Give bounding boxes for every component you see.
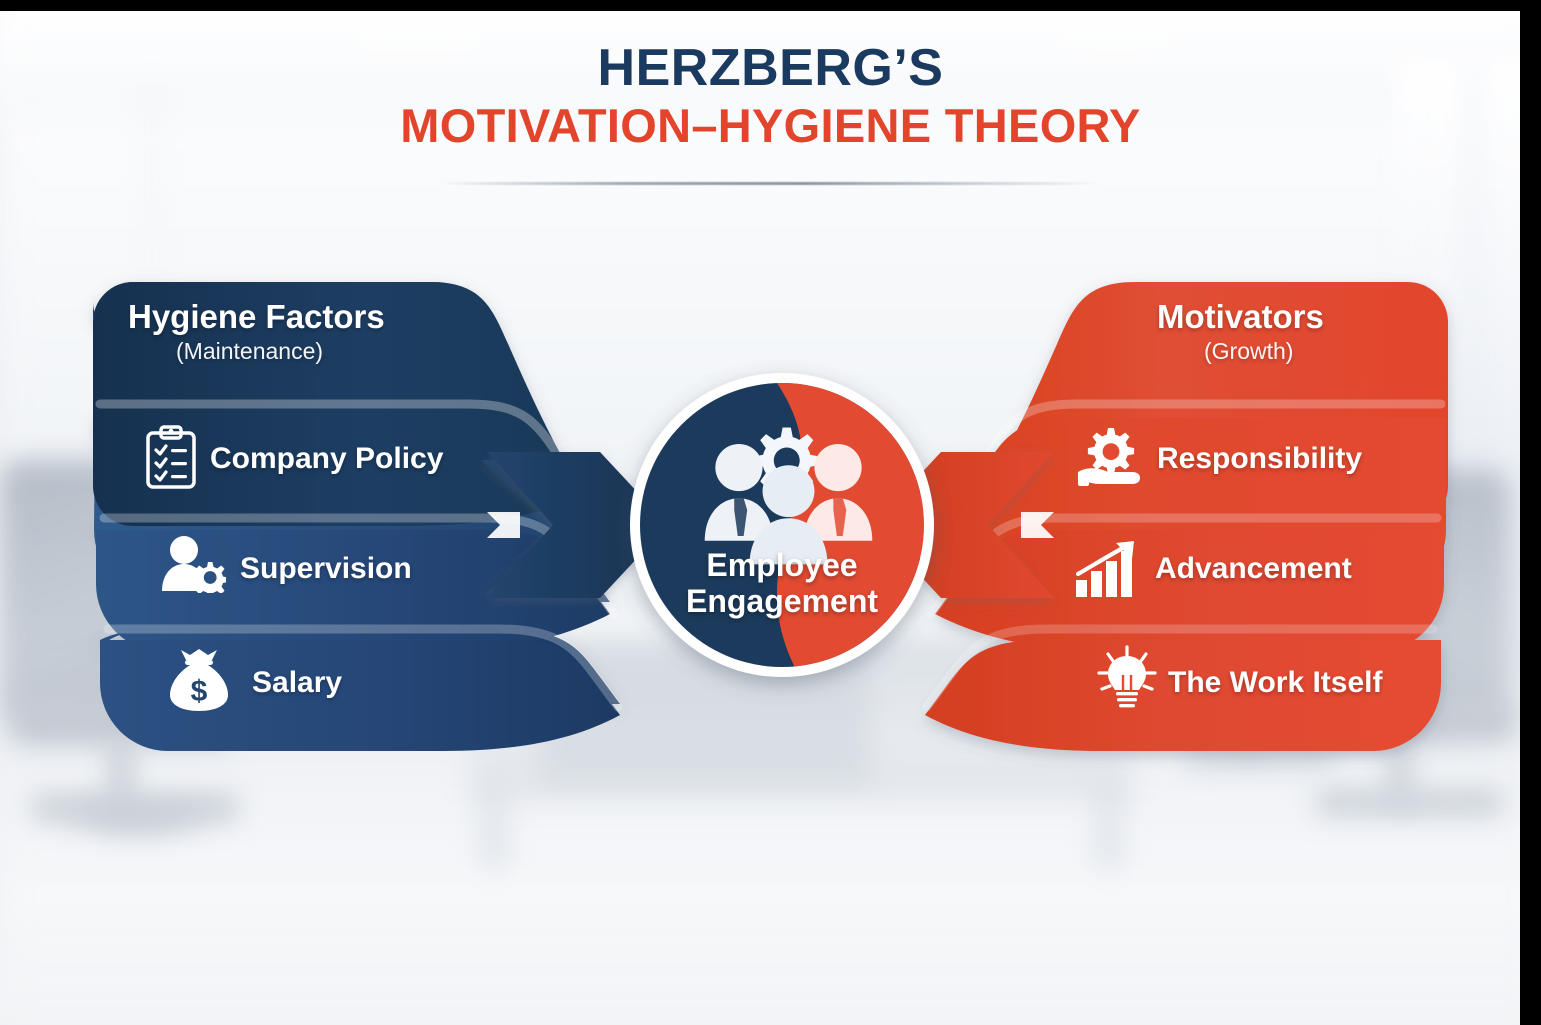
money-bag-icon: $	[168, 648, 230, 717]
page-title: HERZBERG’S MOTIVATION–HYGIENE THEORY	[0, 42, 1541, 153]
hygiene-item-3-label: Salary	[252, 666, 342, 700]
motivators-heading: Motivators	[1157, 298, 1324, 335]
clipboard-checklist-icon	[143, 425, 199, 494]
title-line-1: HERZBERG’S	[0, 42, 1541, 95]
hygiene-item-1-label: Company Policy	[210, 442, 443, 476]
motivators-subheading: (Growth)	[1204, 338, 1324, 365]
motivators-item-1-label: Responsibility	[1157, 442, 1362, 476]
person-gear-icon	[160, 535, 226, 598]
hand-gear-icon	[1078, 428, 1148, 493]
infographic-stage: HERZBERG’S MOTIVATION–HYGIENE THEORY	[0, 0, 1541, 1025]
motivators-item-3-label: The Work Itself	[1168, 666, 1382, 700]
hygiene-header: Hygiene Factors (Maintenance)	[128, 298, 385, 365]
letterbox-top-bar	[0, 0, 1541, 11]
title-divider	[440, 182, 1100, 185]
employee-engagement-label: Employee Engagement	[636, 548, 928, 620]
center-line-1: Employee	[636, 548, 928, 584]
center-line-2: Engagement	[636, 584, 928, 620]
lightbulb-icon	[1096, 645, 1158, 714]
hygiene-item-2-label: Supervision	[240, 552, 412, 586]
title-line-2: MOTIVATION–HYGIENE THEORY	[0, 99, 1541, 153]
svg-text:$: $	[191, 675, 208, 708]
hygiene-heading: Hygiene Factors	[128, 298, 385, 335]
growth-bar-chart-icon	[1074, 540, 1142, 603]
herzberg-diagram	[0, 0, 1541, 1025]
motivators-header: Motivators (Growth)	[1157, 298, 1324, 365]
letterbox-right-bar	[1520, 0, 1541, 1025]
hygiene-subheading: (Maintenance)	[176, 338, 385, 365]
motivators-item-2-label: Advancement	[1155, 552, 1352, 586]
